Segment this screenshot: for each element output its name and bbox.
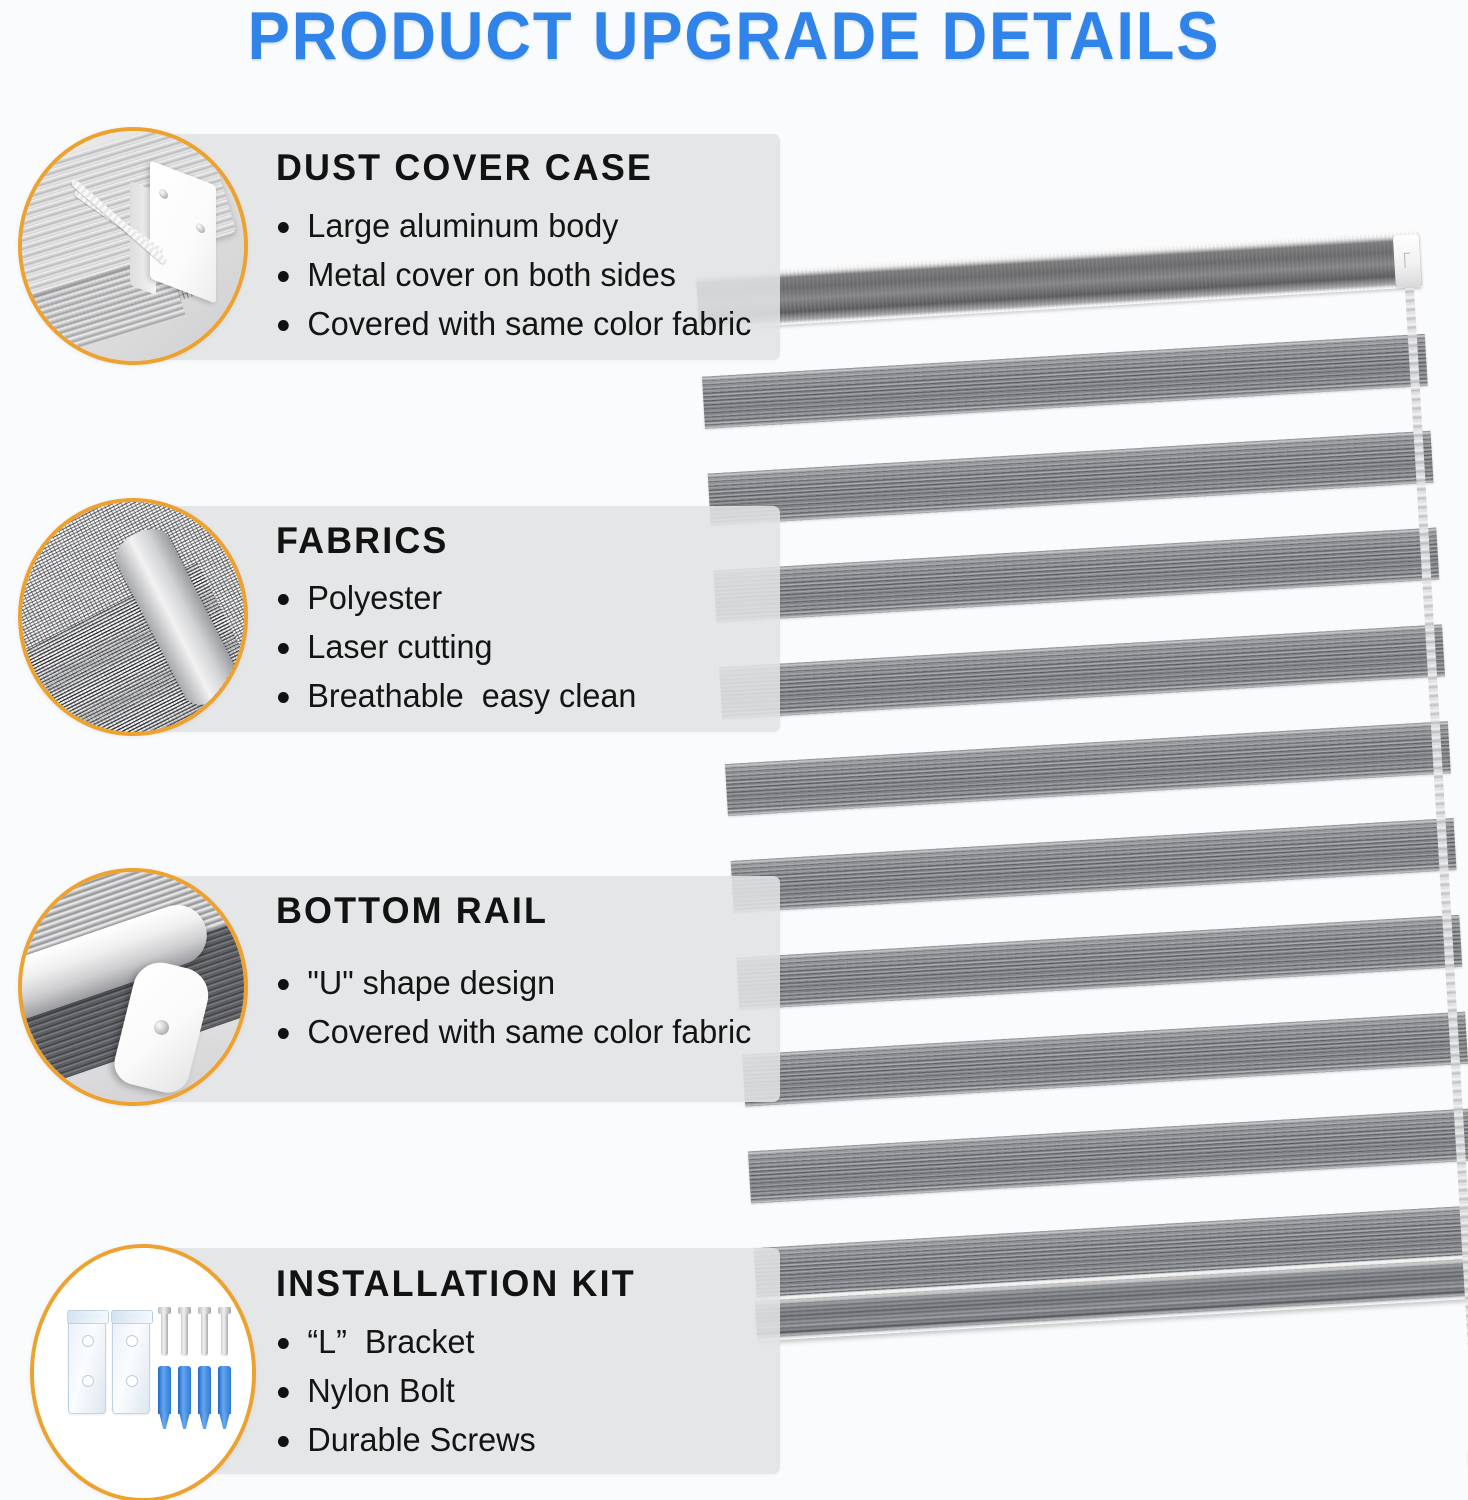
fabric-band	[742, 1012, 1468, 1107]
feature-bullet: Large aluminum body	[276, 209, 751, 242]
headrail-endcap	[1393, 234, 1422, 287]
feature-heading: BOTTOM RAIL	[276, 890, 548, 932]
feature-bullet-list: Large aluminum body Metal cover on both …	[276, 209, 761, 356]
fabric-band	[702, 334, 1428, 429]
blind-assembly	[682, 226, 1468, 1338]
feature-bullet: Polyester	[276, 581, 636, 614]
infographic-root: PRODUCT UPGRADE DETAILS	[0, 0, 1468, 1500]
bottom-rail-photo	[18, 868, 248, 1106]
feature-bullet: Durable Screws	[276, 1423, 536, 1456]
page-title: PRODUCT UPGRADE DETAILS	[51, 2, 1416, 70]
feature-bullet: Metal cover on both sides	[276, 258, 751, 291]
dust-cover-case-photo	[18, 127, 248, 365]
fabric-band	[708, 431, 1434, 526]
fabric-band	[719, 624, 1445, 719]
feature-bullet: “L” Bracket	[276, 1325, 536, 1358]
fabric-band	[725, 721, 1451, 816]
feature-bullet-list: “L” Bracket Nylon Bolt Durable Screws	[276, 1325, 541, 1472]
fabric-band	[731, 818, 1457, 913]
feature-bullet-list: Polyester Laser cutting Breathable easy …	[276, 581, 644, 728]
feature-heading: DUST COVER CASE	[276, 147, 653, 189]
fabric-band	[713, 528, 1439, 623]
installation-kit-photo	[30, 1244, 256, 1500]
feature-bullet: Nylon Bolt	[276, 1374, 536, 1407]
feature-bullet: Breathable easy clean	[276, 679, 636, 712]
feature-heading: FABRICS	[276, 520, 448, 562]
feature-bullet: Covered with same color fabric	[276, 307, 751, 340]
fabric-roll-photo	[18, 498, 248, 736]
feature-bullet: "U" shape design	[276, 966, 751, 999]
blind-headrail	[696, 231, 1422, 330]
fabric-band	[736, 915, 1462, 1010]
feature-bullet: Covered with same color fabric	[276, 1015, 751, 1048]
product-image-zebra-blind	[712, 225, 1468, 1295]
fabric-band	[748, 1109, 1468, 1204]
feature-bullet-list: "U" shape design Covered with same color…	[276, 966, 761, 1064]
feature-bullet: Laser cutting	[276, 630, 636, 663]
feature-heading: INSTALLATION KIT	[276, 1263, 636, 1305]
